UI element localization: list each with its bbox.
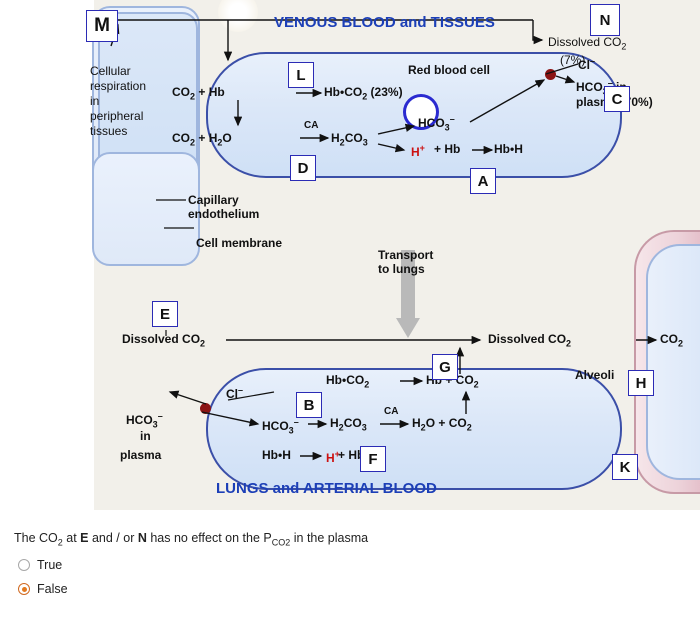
cellular-respiration-text: Cellularrespirationinperipheraltissues [90,64,146,138]
dissolved-co2-bl-text: Dissolved CO [122,332,200,346]
sun-highlight-icon [218,0,258,32]
co2-h2o-text: CO [172,131,190,145]
hco3-plasma-bottom-in: in [140,430,151,444]
dissolved-co2-bl-sub: 2 [200,338,205,348]
cl-minus-top-sup: – [590,56,595,66]
hb-co2-bottom-label: Hb•CO2 [326,374,369,390]
answer-option-true[interactable]: True [18,558,62,572]
hb-co2-top-pct: (23%) [367,85,402,99]
letter-box-n[interactable]: N [590,4,620,36]
hco3-top-inner-text: HCO [418,116,445,130]
h2co3-top-label: H2CO3 [331,132,368,148]
dissolved-co2-bottom-right-label: Dissolved CO2 [488,333,571,349]
cell-membrane-label: Cell membrane [196,237,282,251]
letter-box-e[interactable]: E [152,301,178,327]
hco3-top-inner-label: HCO3– [418,114,455,133]
cl-minus-bottom-text: Cl [226,387,238,401]
h2o-co2-sub2: 2 [467,422,472,432]
question-bold-n: N [138,531,147,545]
question-suffix: in the plasma [290,531,368,545]
hco3-plasma-bottom-sup: – [158,411,163,421]
plus-hb-top-label: + Hb [434,143,460,157]
h-plus-top-sup: + [420,143,425,153]
hco3-inner-bottom-label: HCO3– [262,417,299,436]
h-plus-bottom-text: H [326,451,335,465]
hb-co2-bottom-text: Hb•CO [326,373,364,387]
letter-box-k[interactable]: K [612,454,638,480]
cl-minus-top-text: Cl [578,58,590,72]
alveoli-label: Alveoli [575,369,614,383]
letter-box-f[interactable]: F [360,446,386,472]
capillary-endothelium-label: Capillaryendothelium [188,193,259,222]
dissolved-co2-top-label: Dissolved CO2 [548,36,626,52]
hco3-inner-bottom-sup: – [294,417,299,427]
co2-plus-h2o-label: CO2 + H2O [172,132,232,148]
hb-h-top-label: Hb•H [494,143,523,157]
h2co3-bottom-h: H [330,416,339,430]
h2o-co2-h: H [412,416,421,430]
letter-box-l[interactable]: L [288,62,314,88]
figure-title-bottom: LUNGS and ARTERIAL BLOOD [216,480,437,497]
letter-box-m[interactable]: M [86,10,118,42]
question-prefix: The CO [14,531,58,545]
co2-h2o-mid: + H [195,131,217,145]
tissue-cell-lower-shape [92,152,200,266]
hb-h-bottom-label: Hb•H [262,449,291,463]
h-plus-top-label: H+ [411,143,425,160]
letter-box-g[interactable]: G [432,354,458,380]
anion-exchanger-bottom-icon [200,403,211,414]
letter-box-a[interactable]: A [470,168,496,194]
answer-true-label: True [37,558,62,572]
cl-minus-bottom-label: Cl– [226,385,243,402]
letter-box-b[interactable]: B [296,392,322,418]
answer-option-false[interactable]: False [18,582,68,596]
co2-h2o-end: O [222,131,231,145]
transport-to-lungs-label: Transportto lungs [378,248,433,277]
alveolus-inner-shape [646,244,700,480]
radio-false-icon[interactable] [18,583,30,595]
h-plus-top-text: H [411,145,420,159]
cl-minus-bottom-sup: – [238,385,243,395]
question-text: The CO2 at E and / or N has no effect on… [14,531,368,548]
cl-minus-top-label: Cl– [578,56,595,73]
h2co3-top-h: H [331,131,340,145]
h2o-plus-co2-label: H2O + CO2 [412,417,472,433]
ca-enzyme-top-label: CA [304,120,318,132]
hco3-plasma-bottom-text: HCO [126,413,153,427]
figure-title-top: VENOUS BLOOD and TISSUES [274,14,495,31]
question-mid: at [63,531,80,545]
question-mid2: and / or [89,531,138,545]
hco3-inner-bottom-text: HCO [262,419,289,433]
anion-exchanger-top-icon [545,69,556,80]
hco3-top-inner-sup: – [450,114,455,124]
dissolved-co2-br-sub: 2 [566,338,571,348]
h2o-co2-mid: O + CO [426,416,467,430]
cellular-respiration-label: Cellularrespirationinperipheraltissues [90,64,146,139]
radio-true-icon[interactable] [18,559,30,571]
dissolved-co2-top-text: Dissolved CO [548,35,621,49]
ca-enzyme-bottom-label: CA [384,406,398,418]
hb-co2-bottom-sub: 2 [364,379,369,389]
hco3-plasma-bottom-plasma: plasma [120,449,161,463]
dissolved-co2-top-sub: 2 [621,41,626,51]
hb-co2-top-text: Hb•CO [324,85,362,99]
co2-plus-hb-rest: + Hb [195,85,225,99]
diagram-figure: VENOUS BLOOD and TISSUES Cellularrespira… [78,0,700,510]
question-mid3: has no effect on the P [147,531,272,545]
co2-plus-hb-text: CO [172,85,190,99]
hb-plus-co2-sub: 2 [474,379,479,389]
red-blood-cell-label: Red blood cell [408,64,490,78]
hco3-plasma-top-text: HCO [576,80,603,94]
hb-co2-top-label: Hb•CO2 (23%) [324,86,403,102]
co2-plus-hb-label: CO2 + Hb [172,86,225,102]
co2-alveoli-sub: 2 [678,338,683,348]
co2-alveoli-label: CO2 [660,333,683,349]
letter-box-c[interactable]: C [604,86,630,112]
h2co3-bottom-sub2: 3 [362,422,367,432]
letter-box-d[interactable]: D [290,155,316,181]
dissolved-co2-br-text: Dissolved CO [488,332,566,346]
question-sub2: CO2 [272,538,291,548]
letter-box-h[interactable]: H [628,370,654,396]
dissolved-co2-bottom-left-label: Dissolved CO2 [122,333,205,349]
question-bold-e: E [80,531,88,545]
answer-false-label: False [37,582,68,596]
h2co3-bottom-mid: CO [344,416,362,430]
h2co3-top-sub2: 3 [363,137,368,147]
h2co3-top-mid: CO [345,131,363,145]
hco3-plasma-bottom-label: HCO3– [126,411,163,430]
h2co3-bottom-label: H2CO3 [330,417,367,433]
co2-alveoli-text: CO [660,332,678,346]
